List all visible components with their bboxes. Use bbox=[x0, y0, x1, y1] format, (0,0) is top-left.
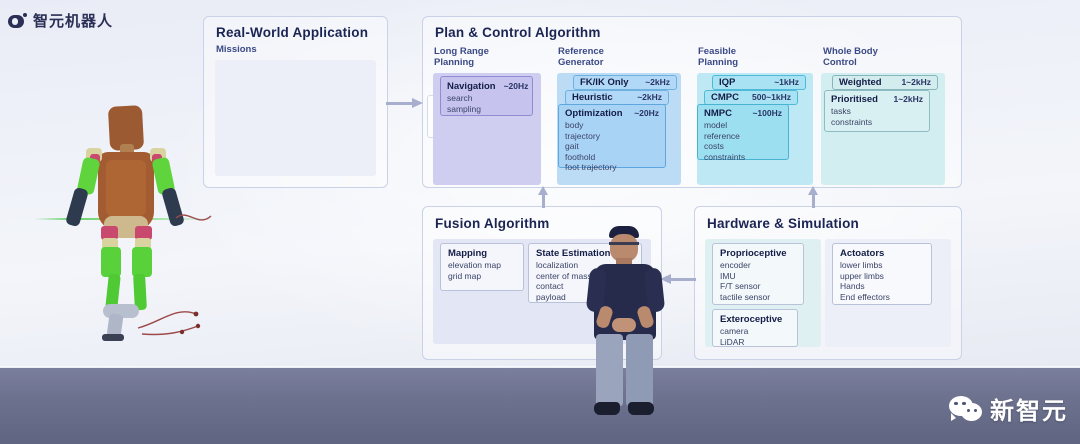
card-proprioceptive-items: encoder IMU F/T sensor tactile sensor bbox=[720, 260, 796, 302]
card-actoators-items: lower limbs upper limbs Hands End effect… bbox=[840, 260, 924, 302]
list-item: tasks bbox=[831, 106, 923, 117]
stage-floor bbox=[0, 368, 1080, 444]
list-item: costs bbox=[704, 141, 782, 152]
card-fk-ik-only-freq: ~2kHz bbox=[645, 77, 670, 87]
card-prioritised-name: Prioritised bbox=[831, 94, 878, 105]
list-item: tactile sensor bbox=[720, 292, 796, 303]
list-item: F/T sensor bbox=[720, 281, 796, 292]
list-item: encoder bbox=[720, 260, 796, 271]
list-item: sampling bbox=[447, 104, 526, 115]
card-exteroceptive[interactable]: Exteroceptive camera LiDAR bbox=[712, 309, 798, 347]
card-actoators-name: Actoators bbox=[840, 248, 884, 259]
card-heuristic[interactable]: Heuristic ~2kHz bbox=[565, 90, 669, 105]
card-navigation-name: Navigation bbox=[447, 81, 496, 92]
list-item: grid map bbox=[448, 271, 516, 282]
card-actoators[interactable]: Actoators lower limbs upper limbs Hands … bbox=[832, 243, 932, 305]
card-heuristic-freq: ~2kHz bbox=[637, 92, 662, 102]
card-nmpc-name: NMPC bbox=[704, 108, 732, 119]
column-title-line2: Planning bbox=[434, 57, 474, 68]
presenter bbox=[576, 226, 672, 431]
card-navigation-freq: ~20Hz bbox=[504, 81, 529, 91]
column-title-line1: Feasible bbox=[698, 46, 736, 57]
card-proprioceptive[interactable]: Proprioceptive encoder IMU F/T sensor ta… bbox=[712, 243, 804, 305]
column-title-line1: Long Range bbox=[434, 46, 489, 57]
list-item: trajectory bbox=[565, 131, 659, 142]
list-item: foot trajectory bbox=[565, 162, 659, 173]
panel-title-hardware-simulation: Hardware & Simulation bbox=[707, 216, 859, 231]
list-item: Hands bbox=[840, 281, 924, 292]
card-exteroceptive-items: camera LiDAR bbox=[720, 326, 790, 347]
card-optimization-items: body trajectory gait foothold foot traje… bbox=[565, 120, 659, 173]
card-mapping-name: Mapping bbox=[448, 248, 487, 259]
card-heuristic-name: Heuristic bbox=[572, 92, 613, 103]
list-item: LiDAR bbox=[720, 337, 790, 348]
list-item: gait bbox=[565, 141, 659, 152]
card-optimization-freq: ~20Hz bbox=[634, 108, 659, 118]
list-item: constraints bbox=[831, 117, 923, 128]
card-proprioceptive-name: Proprioceptive bbox=[720, 248, 787, 259]
card-iqp-name: IQP bbox=[719, 77, 735, 88]
card-fk-ik-only[interactable]: FK/IK Only ~2kHz bbox=[573, 75, 677, 90]
card-mapping-items: elevation map grid map bbox=[448, 260, 516, 281]
card-cmpc[interactable]: CMPC 500~1kHz bbox=[704, 90, 798, 105]
card-weighted[interactable]: Weighted 1~2kHz bbox=[832, 75, 938, 90]
card-mapping[interactable]: Mapping elevation map grid map bbox=[440, 243, 524, 291]
card-cmpc-freq: 500~1kHz bbox=[752, 92, 791, 102]
list-item: search bbox=[447, 93, 526, 104]
card-exteroceptive-name: Exteroceptive bbox=[720, 314, 782, 325]
card-nmpc[interactable]: NMPC ~100Hz model reference costs constr… bbox=[697, 104, 789, 160]
arrow-hardware-to-plan bbox=[808, 186, 820, 208]
card-navigation-items: search sampling bbox=[447, 93, 526, 114]
card-fk-ik-only-name: FK/IK Only bbox=[580, 77, 629, 88]
list-item: End effectors bbox=[840, 292, 924, 303]
section-label-missions: Missions bbox=[216, 44, 257, 55]
panel-title-fusion-algorithm: Fusion Algorithm bbox=[435, 216, 549, 231]
column-title-line2: Generator bbox=[558, 57, 603, 68]
card-weighted-freq: 1~2kHz bbox=[901, 77, 931, 87]
zone-missions bbox=[215, 60, 376, 176]
list-item: IMU bbox=[720, 271, 796, 282]
column-title-line1: Whole Body bbox=[823, 46, 878, 57]
column-title-whole-body-control: Whole Body Control bbox=[823, 46, 878, 68]
column-title-line2: Control bbox=[823, 57, 857, 68]
card-optimization-name: Optimization bbox=[565, 108, 623, 119]
architecture-diagram: Real-World Application Missions Action l… bbox=[0, 0, 1080, 370]
panel-real-world-application: Real-World Application Missions Action l… bbox=[203, 16, 388, 188]
column-title-feasible-planning: Feasible Planning bbox=[698, 46, 738, 68]
card-nmpc-items: model reference costs constraints bbox=[704, 120, 782, 162]
card-iqp[interactable]: IQP ~1kHz bbox=[712, 75, 806, 90]
card-prioritised[interactable]: Prioritised 1~2kHz tasks constraints bbox=[824, 90, 930, 132]
list-item: camera bbox=[720, 326, 790, 337]
list-item: reference bbox=[704, 131, 782, 142]
list-item: elevation map bbox=[448, 260, 516, 271]
column-title-reference-generator: Reference Generator bbox=[558, 46, 604, 68]
panel-title-plan-control-algorithm: Plan & Control Algorithm bbox=[435, 25, 601, 40]
list-item: upper limbs bbox=[840, 271, 924, 282]
card-prioritised-items: tasks constraints bbox=[831, 106, 923, 127]
column-title-line1: Reference bbox=[558, 46, 604, 57]
column-title-long-range-planning: Long Range Planning bbox=[434, 46, 489, 68]
card-weighted-name: Weighted bbox=[839, 77, 882, 88]
card-cmpc-name: CMPC bbox=[711, 92, 739, 103]
card-iqp-freq: ~1kHz bbox=[774, 77, 799, 87]
arrow-application-to-plan bbox=[386, 98, 424, 108]
panel-title-real-world-application: Real-World Application bbox=[216, 25, 368, 40]
channel-watermark: 新智元 bbox=[949, 391, 1068, 426]
list-item: foothold bbox=[565, 152, 659, 163]
card-prioritised-freq: 1~2kHz bbox=[893, 94, 923, 104]
card-optimization[interactable]: Optimization ~20Hz body trajectory gait … bbox=[558, 104, 666, 168]
arrow-fusion-to-plan bbox=[538, 186, 550, 208]
card-nmpc-freq: ~100Hz bbox=[752, 108, 782, 118]
list-item: body bbox=[565, 120, 659, 131]
wechat-icon bbox=[949, 396, 983, 422]
column-title-line2: Planning bbox=[698, 57, 738, 68]
list-item: lower limbs bbox=[840, 260, 924, 271]
list-item: constraints bbox=[704, 152, 782, 163]
list-item: model bbox=[704, 120, 782, 131]
watermark-text: 新智元 bbox=[990, 391, 1068, 426]
card-navigation[interactable]: Navigation ~20Hz search sampling bbox=[440, 76, 533, 116]
